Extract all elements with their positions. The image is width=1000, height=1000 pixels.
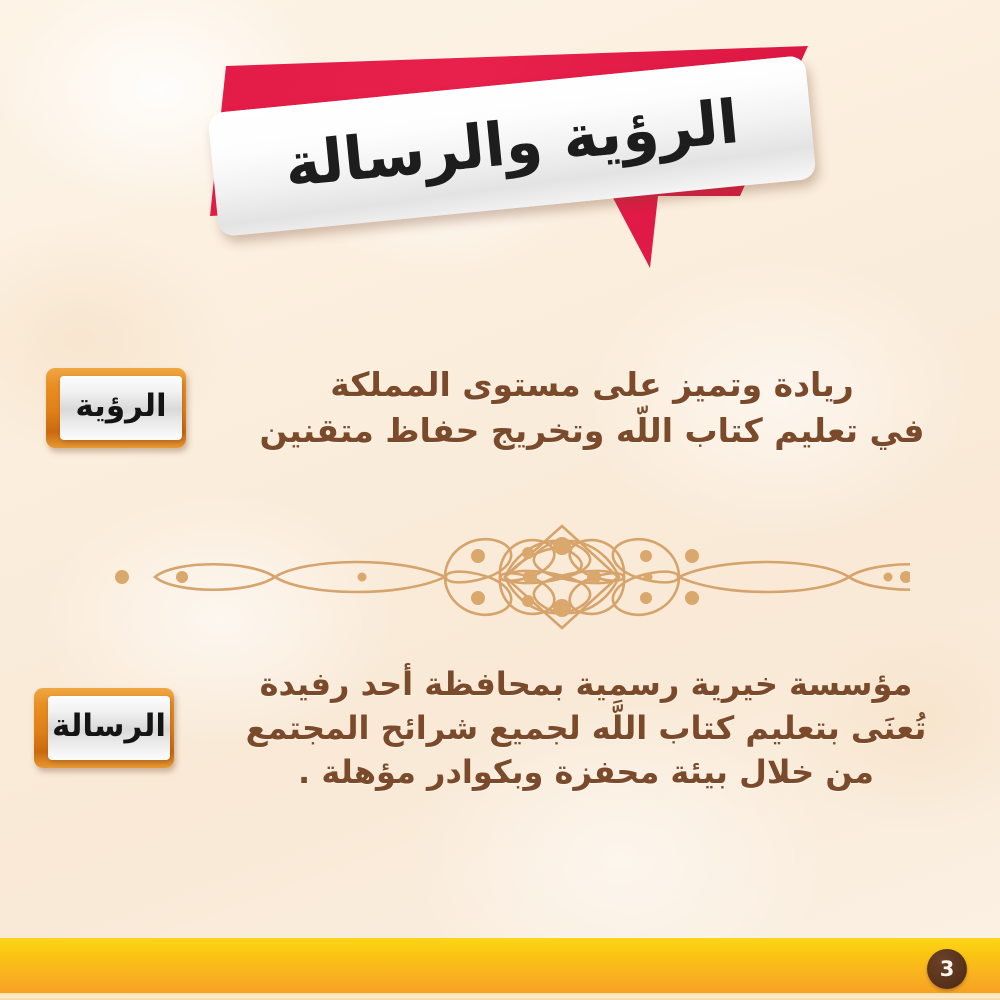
mission-badge-plate: الرسالة — [48, 696, 170, 760]
mission-section: مؤسسة خيرية رسمية بمحافظة أحد رفيدة تُعن… — [28, 662, 970, 794]
mission-text: مؤسسة خيرية رسمية بمحافظة أحد رفيدة تُعن… — [176, 662, 970, 794]
page-number-badge: 3 — [927, 949, 967, 989]
mission-badge-label: الرسالة — [52, 711, 166, 742]
floral-divider-ornament — [100, 520, 910, 635]
vision-badge: الرؤية — [40, 362, 188, 454]
mission-line-3: من خلال بيئة محفزة وبكوادر مؤهلة . — [202, 750, 970, 794]
page-title: الرؤية والرسالة — [282, 92, 741, 196]
mission-line-1: مؤسسة خيرية رسمية بمحافظة أحد رفيدة — [202, 662, 970, 706]
vision-badge-plate: الرؤية — [60, 376, 182, 440]
footer-bar: 3 — [0, 938, 1000, 1000]
vision-line-1: ريادة وتميز على مستوى المملكة — [214, 362, 970, 408]
mission-badge: الرسالة — [28, 682, 176, 774]
footer-bottom-strip — [0, 993, 1000, 1000]
vision-badge-label: الرؤية — [75, 391, 166, 422]
brochure-page: الرؤية والرسالة ريادة وتميز على مستوى ال… — [0, 0, 1000, 1000]
vision-text: ريادة وتميز على مستوى المملكة في تعليم ك… — [188, 362, 970, 453]
mission-line-2: تُعنَى بتعليم كتاب اللَّه لجميع شرائح ال… — [202, 706, 970, 750]
vision-line-2: في تعليم كتاب اللّه وتخريج حفاظ متقنين — [214, 408, 970, 454]
vision-section: ريادة وتميز على مستوى المملكة في تعليم ك… — [40, 362, 970, 454]
title-banner: الرؤية والرسالة — [180, 28, 860, 298]
